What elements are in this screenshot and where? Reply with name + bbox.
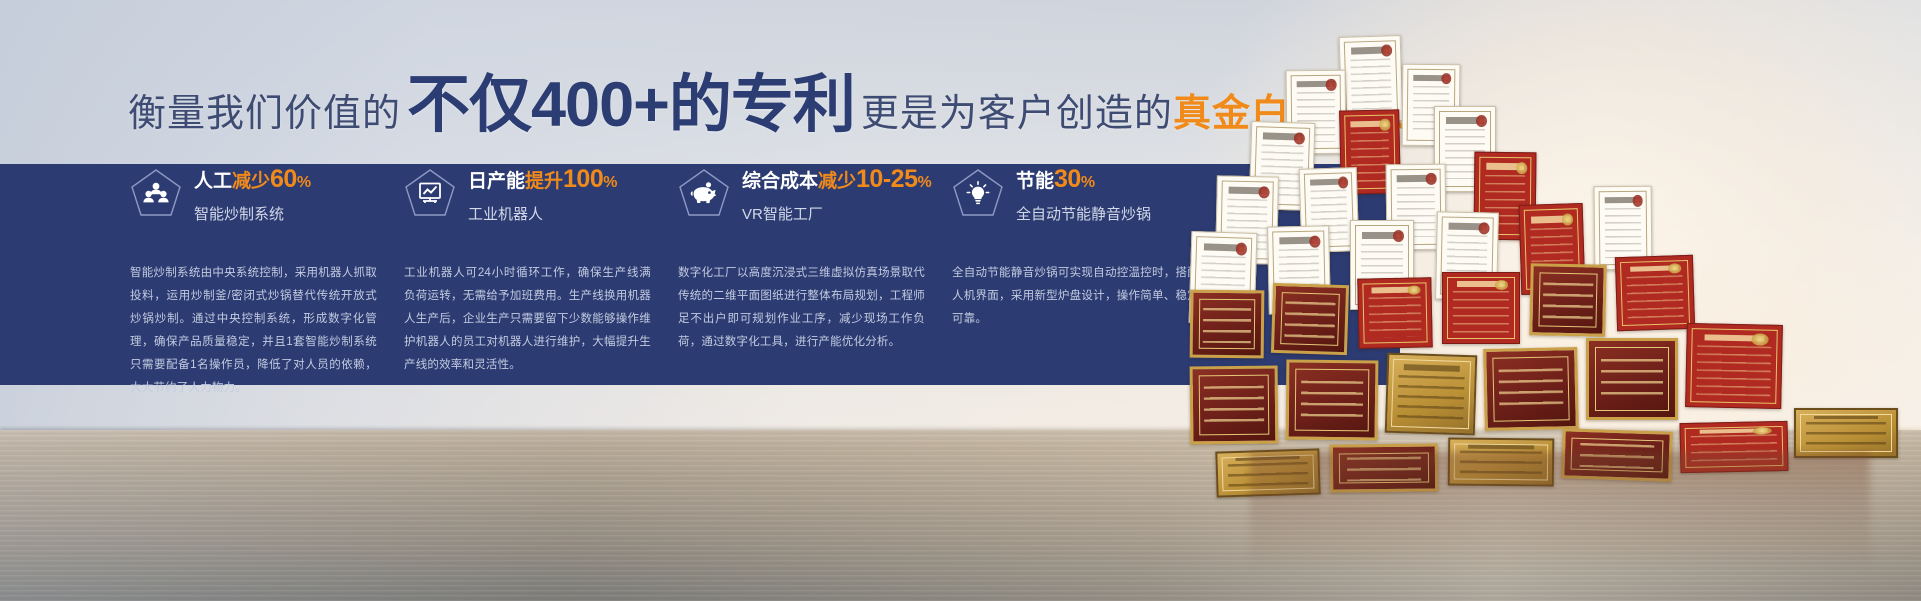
- feature-item-4: 节能30% 全自动节能静音炒锅 全自动节能静音炒锅可实现自动控温控时，搭配人机界…: [952, 164, 1199, 385]
- headline-middle: 更是为客户创造的: [861, 82, 1173, 137]
- certificate-item: [1357, 277, 1432, 349]
- lightbulb-icon: [952, 168, 1004, 218]
- feature-item-1: 人工减少60% 智能炒制系统 智能炒制系统由中央系统控制，采用机器人抓取投料，运…: [130, 164, 377, 385]
- certificate-item: [1529, 263, 1606, 337]
- feature-body-1: 智能炒制系统由中央系统控制，采用机器人抓取投料，运用炒制釜/密闭式炒锅替代传统开…: [130, 262, 377, 400]
- feature-body-3: 数字化工厂以高度沉浸式三维虚拟仿真场景取代传统的二维平面图纸进行整体布局规划，工…: [678, 262, 925, 354]
- headline-lead: 衡量我们价值的: [128, 82, 401, 137]
- feature-title-1: 人工减少60%: [194, 166, 311, 194]
- feature-body-4: 全自动节能静音炒锅可实现自动控温控时，搭配人机界面，采用新型炉盘设计，操作简单、…: [952, 262, 1199, 331]
- certificate-pyramid: [1190, 36, 1921, 496]
- chart-board-icon: [404, 168, 456, 218]
- feature-subtitle-1: 智能炒制系统: [194, 203, 311, 224]
- feature-item-3: 综合成本减少10-25% VR智能工厂 数字化工厂以高度沉浸式三维虚拟仿真场景取…: [678, 164, 925, 385]
- feature-title-2: 日产能提升100%: [468, 166, 617, 194]
- feature-subtitle-4: 全自动节能静音炒锅: [1016, 203, 1151, 224]
- feature-subtitle-2: 工业机器人: [468, 203, 617, 224]
- people-group-icon: [130, 168, 182, 218]
- certificate-reflection: [1250, 452, 1870, 572]
- feature-subtitle-3: VR智能工厂: [742, 203, 932, 224]
- certificate-item: [1190, 366, 1279, 445]
- feature-title-3: 综合成本减少10-25%: [742, 166, 932, 194]
- certificate-item: [1483, 347, 1579, 431]
- feature-item-2: 日产能提升100% 工业机器人 工业机器人可24小时循环工作，确保生产线满负荷运…: [404, 164, 651, 385]
- certificate-item: [1385, 353, 1477, 436]
- promo-banner: 衡量我们价值的 不仅400+的专利 更是为客户创造的 真金白银的效益: [0, 0, 1921, 601]
- certificate-item: [1615, 255, 1695, 331]
- headline-highlight: 不仅400+的专利: [407, 74, 855, 137]
- certificate-item: [1794, 408, 1898, 458]
- feature-body-2: 工业机器人可24小时循环工作，确保生产线满负荷运转，无需给予加班费用。生产线换用…: [404, 262, 651, 377]
- certificate-item: [1685, 323, 1783, 409]
- certificate-item: [1190, 290, 1265, 359]
- piggy-bank-icon: [678, 168, 730, 218]
- feature-title-4: 节能30%: [1016, 166, 1151, 194]
- certificate-item: [1286, 360, 1379, 441]
- certificate-item: [1442, 272, 1520, 344]
- certificate-item: [1271, 283, 1349, 355]
- certificate-item: [1586, 338, 1678, 420]
